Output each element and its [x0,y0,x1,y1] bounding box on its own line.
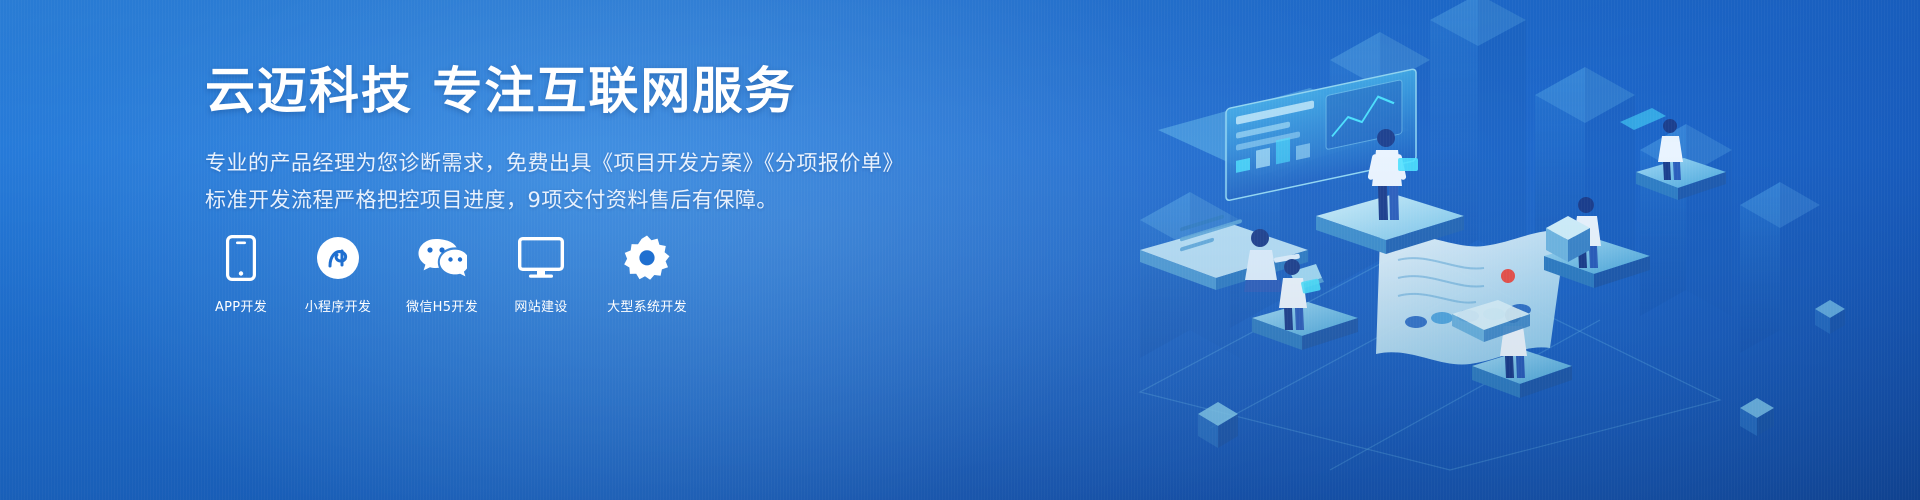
service-item-website[interactable]: 网站建设 [503,232,579,315]
gear-icon [624,232,670,284]
service-item-miniprogram[interactable]: 小程序开发 [295,232,381,315]
service-item-system[interactable]: 大型系统开发 [597,232,697,315]
document-sheet [1376,231,1566,365]
service-label-wechat: 微信H5开发 [406,296,478,315]
service-label-miniprogram: 小程序开发 [305,296,372,315]
mini-program-icon [316,232,360,284]
service-item-app[interactable]: APP开发 [205,232,277,315]
subtitle-line-2: 标准开发流程严格把控项目进度，9项交付资料售后有保障。 [205,182,1105,219]
page-title: 云迈科技 专注互联网服务 [205,62,1105,121]
subtitle-line-1: 专业的产品经理为您诊断需求，免费出具《项目开发方案》《分项报价单》 [205,145,1105,182]
mobile-phone-icon [226,232,256,284]
hero-copy: 云迈科技 专注互联网服务 专业的产品经理为您诊断需求，免费出具《项目开发方案》《… [205,62,1105,220]
service-list: APP开发 小程序开发 [205,232,697,315]
service-label-app: APP开发 [215,296,267,315]
monitor-icon [518,232,564,284]
service-label-system: 大型系统开发 [607,296,687,315]
hero-subtitle: 专业的产品经理为您诊断需求，免费出具《项目开发方案》《分项报价单》 标准开发流程… [205,145,1105,220]
service-item-wechat[interactable]: 微信H5开发 [399,232,485,315]
isometric-data-platform-illustration [1080,0,1920,500]
hero-banner: 云迈科技 专注互联网服务 专业的产品经理为您诊断需求，免费出具《项目开发方案》《… [0,0,1920,500]
service-label-website: 网站建设 [514,296,567,315]
wechat-icon [417,232,467,284]
